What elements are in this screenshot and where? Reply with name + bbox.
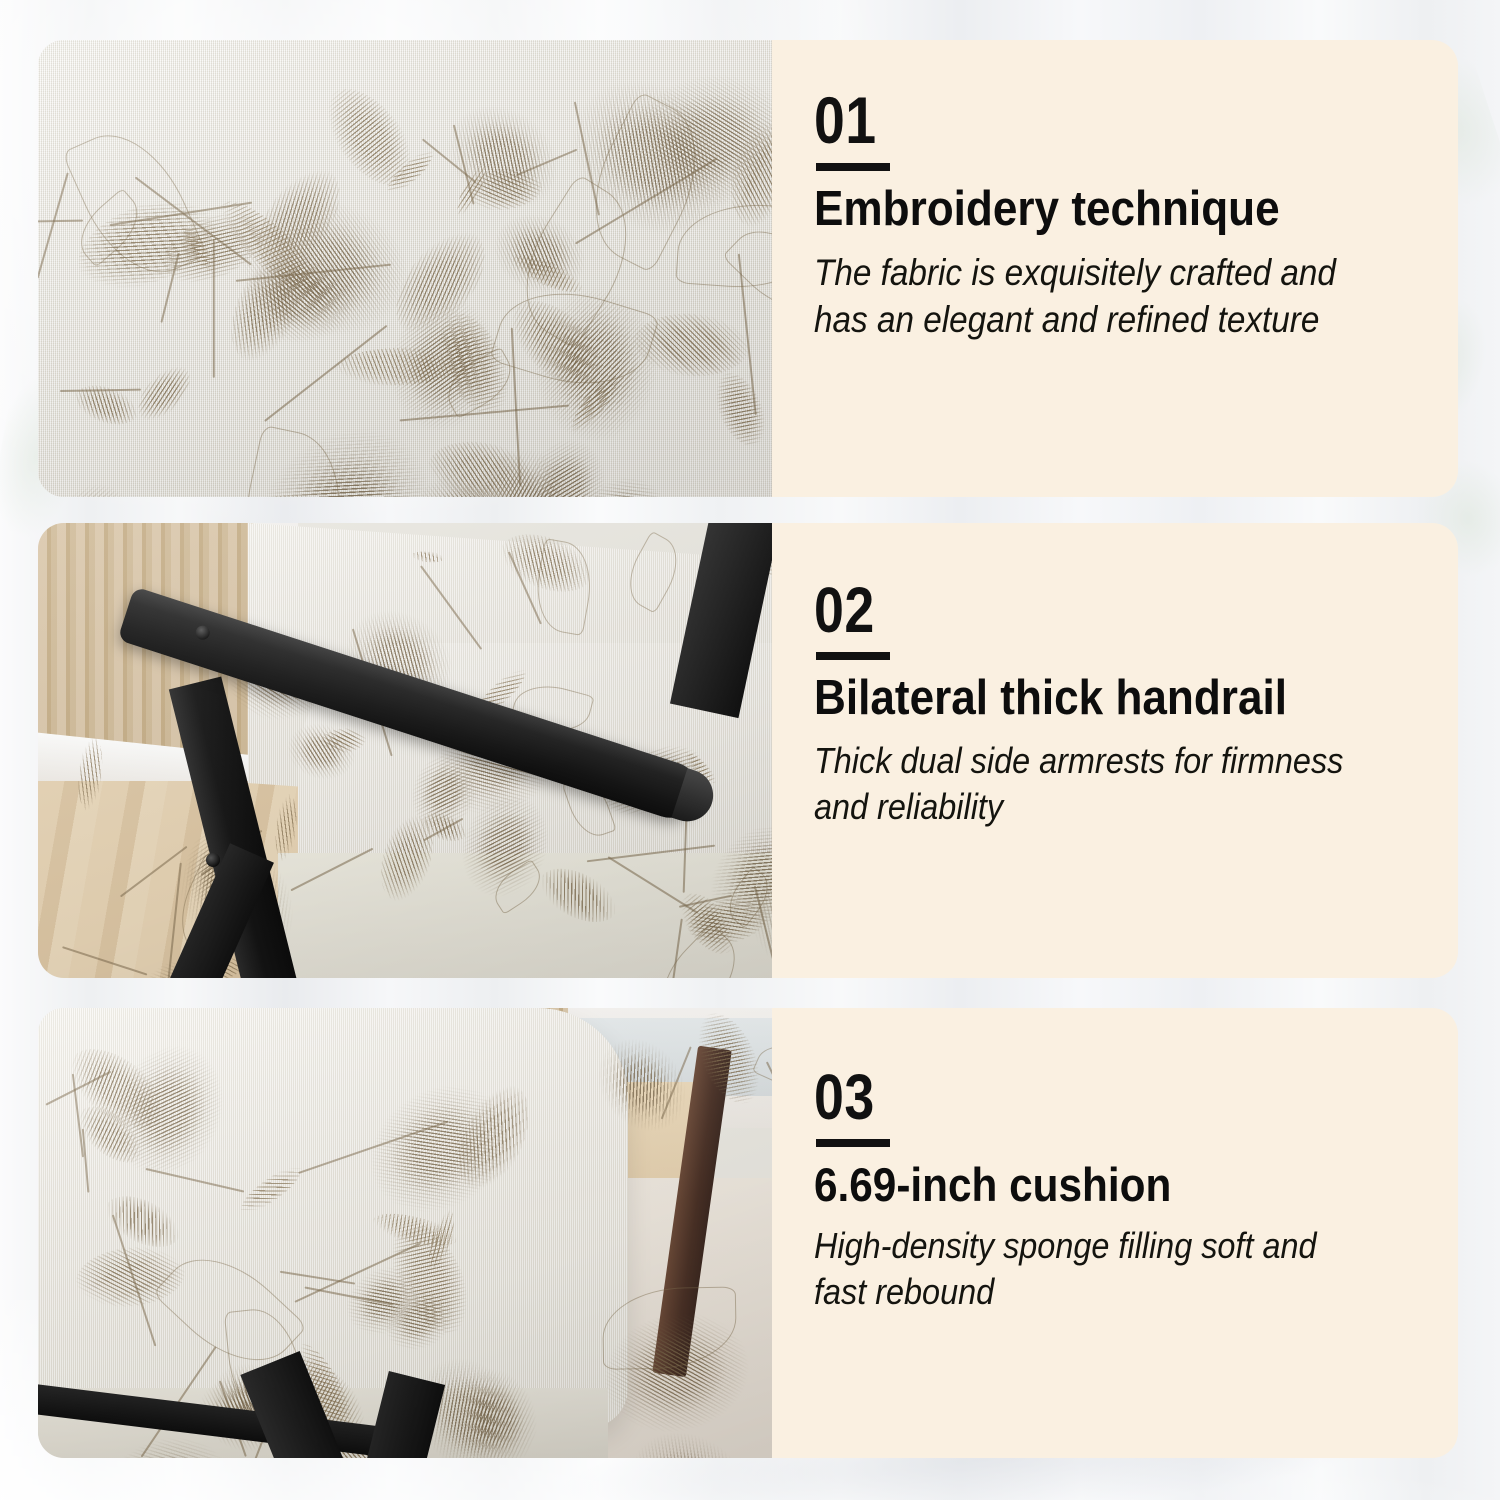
- feature-title: 6.69-inch cushion: [814, 1161, 1358, 1209]
- feature-row: 03 6.69-inch cushion High-density sponge…: [38, 1008, 1458, 1458]
- feature-text-panel: 03 6.69-inch cushion High-density sponge…: [772, 1008, 1458, 1458]
- feature-title: Bilateral thick handrail: [814, 674, 1358, 724]
- feature-text-panel: 01 Embroidery technique The fabric is ex…: [772, 40, 1458, 497]
- feature-description: The fabric is exquisitely crafted and ha…: [814, 249, 1358, 344]
- feature-photo-fabric: [38, 40, 772, 497]
- feature-row: 02 Bilateral thick handrail Thick dual s…: [38, 523, 1458, 978]
- embroidery-motifs: [38, 40, 772, 497]
- feature-description: Thick dual side armrests for firmness an…: [814, 738, 1358, 830]
- feature-text-panel: 02 Bilateral thick handrail Thick dual s…: [772, 523, 1458, 978]
- feature-number: 02: [814, 583, 875, 638]
- feature-description: High-density sponge filling soft and fas…: [814, 1223, 1358, 1315]
- feature-photo-cushion: [38, 1008, 772, 1458]
- feature-number: 03: [814, 1070, 875, 1125]
- screw-icon: [194, 624, 212, 642]
- feature-rule: [816, 163, 890, 171]
- feature-rule: [816, 652, 890, 660]
- feature-row: 01 Embroidery technique The fabric is ex…: [38, 40, 1458, 497]
- screw-icon: [206, 853, 220, 867]
- feature-title: Embroidery technique: [814, 185, 1358, 235]
- feature-number: 01: [814, 92, 877, 149]
- feature-photo-armrest: [38, 523, 772, 978]
- feature-rule: [816, 1139, 890, 1147]
